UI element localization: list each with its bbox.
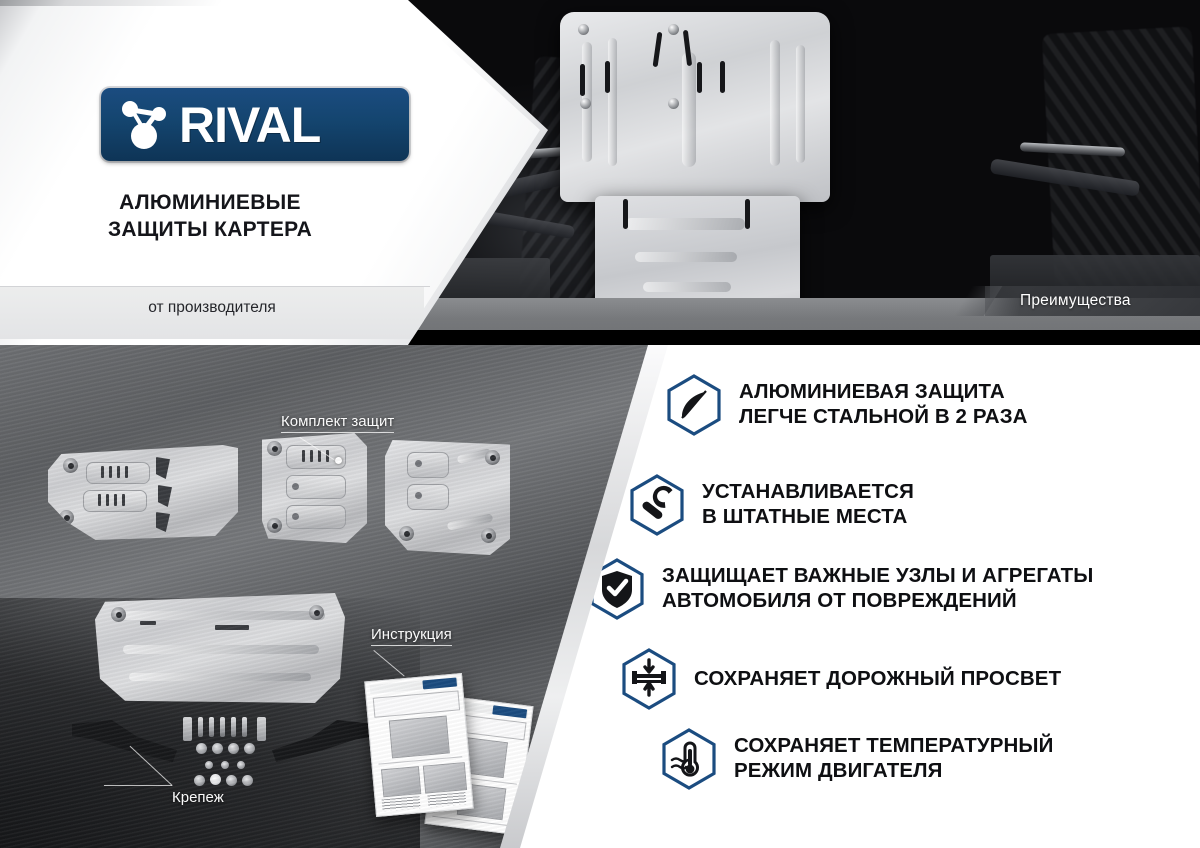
plate-rib [770, 40, 780, 166]
advantage-text-5: СОХРАНЯЕТ ТЕМПЕРАТУРНЫЙ РЕЖИМ ДВИГАТЕЛЯ [734, 734, 1053, 783]
content-section: Комплект защит Инструкция Крепеж [0, 345, 1200, 848]
ground-clearance-icon [620, 647, 678, 711]
plate-cutout [156, 512, 170, 532]
sheet-rule [437, 774, 517, 785]
plate-rib [129, 673, 311, 681]
sheet-header [444, 699, 528, 718]
advantage-text-1: АЛЮМИНИЕВАЯ ЗАЩИТА ЛЕГЧЕ СТАЛЬНОЙ В 2 РА… [739, 380, 1028, 429]
sheet-logo [422, 677, 457, 689]
plate-bolt [578, 24, 589, 35]
hero-section: Преимущества RIVAL А [0, 0, 1200, 345]
advantage-item-2: УСТАНАВЛИВАЕТСЯ В ШТАТНЫЕ МЕСТА [628, 473, 914, 537]
plate-bolt [668, 24, 679, 35]
sheet-logo [492, 705, 527, 718]
washer [228, 743, 239, 754]
callout-kit-leader [299, 437, 336, 462]
plate-hole [292, 513, 299, 520]
plate-pad [86, 462, 150, 484]
plate-grommet [111, 607, 126, 622]
plate-vent-slot [720, 61, 725, 93]
bolt [231, 717, 236, 737]
plate-vent-slot [106, 494, 109, 506]
callout-underline [371, 645, 452, 646]
washer-small [237, 761, 245, 769]
plate-bolt [580, 98, 591, 109]
sheet-rule [432, 816, 512, 827]
page-title: АЛЮМИНИЕВЫЕ ЗАЩИТЫ КАРТЕРА [0, 190, 420, 244]
plate-grommet [63, 458, 78, 473]
advantage-text-2: УСТАНАВЛИВАЕТСЯ В ШТАТНЫЕ МЕСТА [702, 480, 914, 529]
plate-vent-slot [101, 466, 104, 478]
plate-grommet [399, 526, 414, 541]
advantages-ribbon-label: Преимущества [1020, 292, 1131, 310]
plate-pad [286, 505, 346, 529]
plate-rib [625, 218, 745, 230]
sheet-table [443, 712, 527, 740]
callout-kit-dot [335, 457, 342, 464]
bolt [242, 717, 247, 737]
advantage-item-1: АЛЮМИНИЕВАЯ ЗАЩИТА ЛЕГЧЕ СТАЛЬНОЙ В 2 РА… [665, 373, 1028, 437]
callout-kit: Комплект защит [281, 413, 394, 433]
logo-wordmark: RIVAL [179, 100, 320, 150]
washer [226, 775, 237, 786]
advantage-item-5: СОХРАНЯЕТ ТЕМПЕРАТУРНЫЙ РЕЖИМ ДВИГАТЕЛЯ [660, 727, 1053, 791]
bracket-tab [257, 717, 266, 741]
plate-vent-slot [697, 62, 702, 93]
advantage-item-4: СОХРАНЯЕТ ДОРОЖНЫЙ ПРОСВЕТ [620, 647, 1061, 711]
plate-vent-slot [653, 32, 663, 67]
plate-vent-slot [302, 450, 305, 462]
washer [210, 774, 221, 785]
instruction-sheet-front [364, 673, 473, 817]
plate-cutout [158, 485, 172, 507]
plate-cutout [156, 457, 170, 479]
feather-icon [665, 373, 723, 437]
plate-pad [407, 452, 449, 478]
rival-logo: RIVAL [101, 88, 409, 161]
callout-hardware-leader [104, 785, 172, 786]
bracket-tab [183, 717, 192, 741]
sheet-diagram [450, 736, 508, 778]
plate-vent-slot [310, 450, 313, 462]
skid-plate-front [95, 593, 345, 703]
plate-pad [286, 475, 346, 499]
plate-grommet [267, 441, 282, 456]
callout-manual-label: Инструкция [371, 626, 452, 643]
plate-vent-slot [745, 199, 750, 229]
plate-vent-slot [580, 64, 585, 96]
plate-vent-slot [605, 61, 610, 93]
bolt [220, 717, 225, 737]
skid-plate-large [48, 440, 238, 540]
plate-rib [123, 645, 319, 654]
washer [212, 743, 223, 754]
plate-hole [415, 492, 422, 499]
washer [244, 743, 255, 754]
callout-manual-leader [373, 650, 404, 676]
sheet-photo [457, 783, 507, 820]
plate-rib [115, 611, 325, 620]
callout-hardware-label: Крепеж [172, 789, 224, 806]
washer [196, 743, 207, 754]
advantage-text-3: ЗАЩИЩАЕТ ВАЖНЫЕ УЗЛЫ И АГРЕГАТЫ АВТОМОБИ… [662, 564, 1093, 613]
plate-grommet [481, 528, 496, 543]
plate-pad [83, 490, 147, 512]
plate-vent-slot [623, 199, 628, 229]
page-title-line1: АЛЮМИНИЕВЫЕ [0, 190, 420, 217]
sheet-rule [378, 756, 462, 764]
sheet-text-block [433, 782, 456, 810]
washer-small [205, 761, 213, 769]
sheet-photo [381, 766, 421, 797]
promo-banner: Преимущества RIVAL А [0, 0, 1200, 848]
plate-pad [286, 445, 346, 469]
plate-hole [292, 483, 299, 490]
sheet-header [370, 677, 458, 694]
plate-pad [407, 484, 449, 510]
plate-vent-slot [114, 494, 117, 506]
plate-bolt [668, 98, 679, 109]
plate-hole [415, 460, 422, 467]
plate-grommet [267, 518, 282, 533]
plate-vent-slot [117, 466, 120, 478]
bolt [209, 717, 214, 737]
wrench-icon [628, 473, 686, 537]
sheet-text-block [382, 796, 421, 811]
plate-vent-slot [98, 494, 101, 506]
plate-rib [457, 448, 492, 464]
header-subtitle: от производителя [0, 299, 424, 317]
skid-plate-right [385, 440, 510, 555]
advantage-text-4: СОХРАНЯЕТ ДОРОЖНЫЙ ПРОСВЕТ [694, 667, 1061, 692]
plate-vent-slot [215, 625, 249, 630]
callout-hardware-leader2 [130, 746, 173, 786]
plate-rib [643, 282, 731, 292]
plate-vent-slot [125, 466, 128, 478]
skid-plate-middle [262, 433, 367, 543]
plate-vent-slot [318, 450, 321, 462]
plate-grommet [309, 605, 324, 620]
washer [242, 775, 253, 786]
mounting-bracket-right [272, 720, 377, 762]
plate-vent-slot [326, 450, 329, 462]
plate-rib [447, 513, 494, 530]
callout-hardware: Крепеж [172, 789, 224, 806]
mounting-bracket-left [72, 720, 177, 762]
molecule-icon [115, 97, 177, 153]
sheet-text-block [427, 792, 466, 807]
plate-grommet [485, 450, 500, 465]
plate-vent-slot [140, 621, 156, 625]
bolt [198, 717, 203, 737]
sheet-table [373, 690, 460, 717]
advantage-item-3: ЗАЩИЩАЕТ ВАЖНЫЕ УЗЛЫ И АГРЕГАТЫ АВТОМОБИ… [588, 557, 1093, 621]
plate-rib [608, 38, 617, 166]
plate-rib [796, 45, 805, 163]
washer [194, 775, 205, 786]
callout-underline [281, 432, 394, 433]
advantages-ribbon: Преимущества [985, 286, 1200, 316]
plate-rib [682, 52, 696, 167]
plate-grommet [59, 510, 74, 525]
plate-vent-slot [122, 494, 125, 506]
callout-kit-label: Комплект защит [281, 413, 394, 430]
installed-skid-plate-upper [560, 12, 830, 202]
plate-rib [635, 252, 737, 262]
thermometer-icon [660, 727, 718, 791]
plate-vent-slot [109, 466, 112, 478]
photo-shadow-wedge [0, 598, 420, 848]
washer-small [221, 761, 229, 769]
sheet-diagram [389, 715, 450, 758]
sheet-photo [423, 762, 467, 794]
callout-manual: Инструкция [371, 626, 452, 646]
page-title-line2: ЗАЩИТЫ КАРТЕРА [0, 217, 420, 244]
